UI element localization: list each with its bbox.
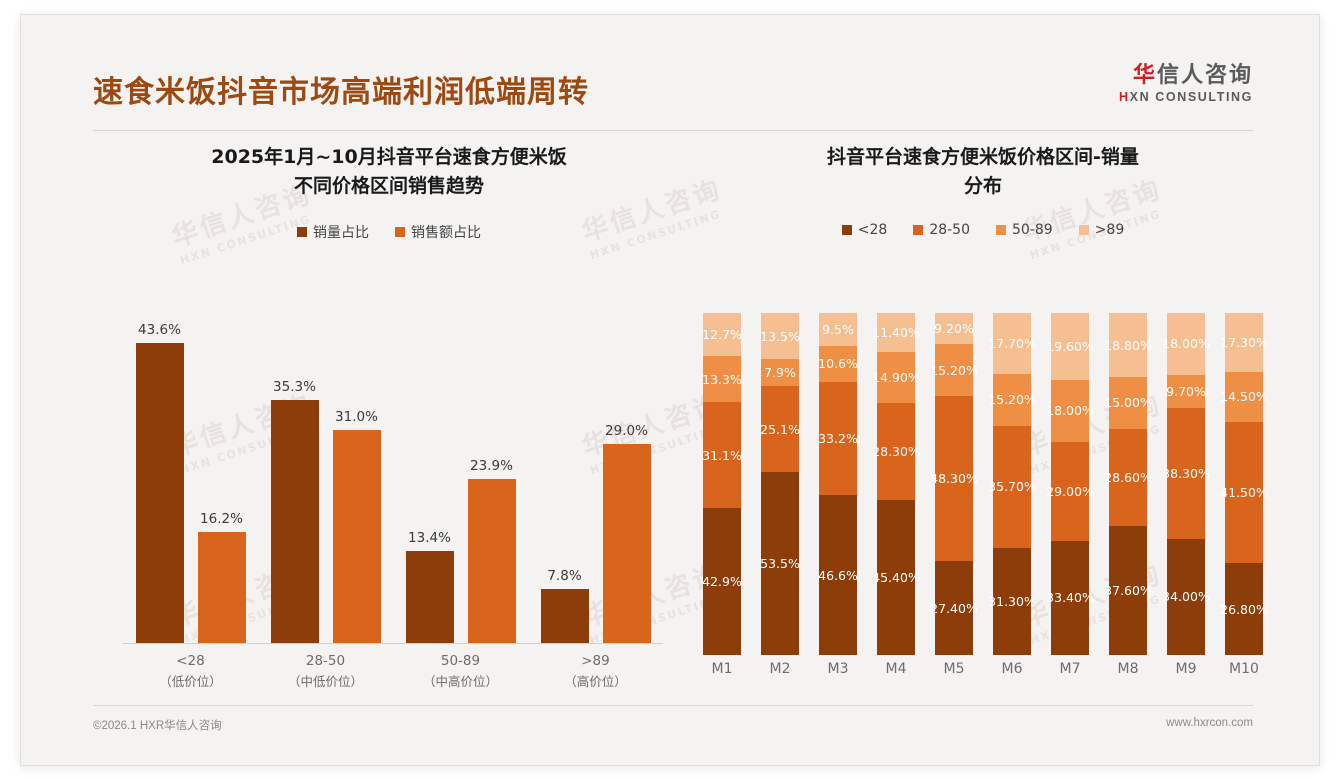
stacked-segment-value-label: 14.50% [1220,389,1268,404]
logo-chinese-text: 华信人咨询 [1119,63,1253,88]
stacked-bar-x-labels: M1M2M3M4M5M6M7M8M9M10 [703,661,1263,677]
stacked-segment-value-label: 31.30% [988,594,1036,609]
stacked-segment-value-label: 18.80% [1104,338,1152,353]
stacked-bar-segment[interactable]: 28.60% [1109,429,1147,527]
stacked-bar-segment[interactable]: 14.90% [877,352,915,403]
x-axis-category-sub: （中高价位） [393,672,528,691]
stacked-segment-value-label: 28.30% [872,444,920,459]
stacked-bar-segment[interactable]: 35.70% [993,426,1031,548]
bar-value-label: 29.0% [605,423,648,439]
chart-title-left-line2: 不同价格区间销售趋势 [99,172,679,201]
stacked-segment-value-label: 9.70% [1166,384,1206,399]
stacked-bar-segment[interactable]: 18.00% [1051,380,1089,442]
stacked-bar-column[interactable]: 17.30%14.50%41.50%26.80% [1225,313,1263,655]
stacked-bar-column[interactable]: 18.80%15.00%28.60%37.60% [1109,313,1147,655]
x-axis-month-label: M8 [1109,661,1147,677]
legend-label: <28 [858,222,888,238]
bar-group: 7.8%29.0% [528,313,663,643]
page-title: 速食米饭抖音市场高端利润低端周转 [93,67,589,111]
legend-swatch-icon [297,227,307,237]
x-axis-month-label: M3 [819,661,857,677]
chart-stacked-bar: 抖音平台速食方便米饭价格区间-销量 分布 <2828-5050-89>89 12… [693,143,1273,703]
chart-title-left-line1: 2025年1月~10月抖音平台速食方便米饭 [99,143,679,172]
stacked-bar-segment[interactable]: 17.30% [1225,313,1263,372]
stacked-bar-column[interactable]: 18.00%9.70%38.30%34.00% [1167,313,1205,655]
stacked-bar-segment[interactable]: 45.40% [877,500,915,655]
stacked-segment-value-label: 17.30% [1220,335,1268,350]
legend-right: <2828-5050-89>89 [693,222,1273,238]
legend-item[interactable]: 28-50 [913,222,970,238]
stacked-bar-segment[interactable]: 12.7% [703,313,741,356]
stacked-segment-value-label: 27.40% [930,601,978,616]
stacked-bar-plot-area: 12.7%13.3%31.1%42.9%13.5%7.9%25.1%53.5%9… [703,313,1263,655]
stacked-bar-segment[interactable]: 34.00% [1167,539,1205,655]
bar-value-label: 35.3% [273,379,316,395]
stacked-segment-value-label: 9.5% [822,322,854,337]
stacked-bar-segment[interactable]: 37.60% [1109,526,1147,655]
stacked-bar-segment[interactable]: 33.40% [1051,541,1089,655]
footer-website: www.hxrcon.com [1166,717,1253,733]
x-axis-category-sub: （中低价位） [258,672,393,691]
stacked-bar-segment[interactable]: 28.30% [877,403,915,500]
x-axis-category-label: <28（低价位） [123,651,258,691]
legend-swatch-icon [996,225,1006,235]
stacked-bar-segment[interactable]: 18.00% [1167,313,1205,375]
chart-title-right: 抖音平台速食方便米饭价格区间-销量 分布 [693,143,1273,200]
stacked-segment-value-label: 15.20% [930,363,978,378]
stacked-bar-segment[interactable]: 26.80% [1225,563,1263,655]
bar[interactable]: 7.8% [541,589,589,643]
stacked-segment-value-label: 35.70% [988,479,1036,494]
stacked-bar-segment[interactable]: 41.50% [1225,422,1263,564]
x-axis-category-label: 28-50（中低价位） [258,651,393,691]
stacked-bar-segment[interactable]: 33.2% [819,382,857,496]
x-axis-category-label: >89（高价位） [528,651,663,691]
stacked-bar-segment[interactable]: 13.3% [703,356,741,401]
logo-en-rest: XN CONSULTING [1130,90,1253,104]
stacked-bar-segment[interactable]: 27.40% [935,561,973,655]
x-axis-category-label: 50-89（中高价位） [393,651,528,691]
x-axis-month-label: M2 [761,661,799,677]
bar[interactable]: 29.0% [603,444,651,643]
logo-chars-rest: 信人咨询 [1157,63,1253,88]
logo-char-hua: 华 [1133,63,1157,88]
stacked-segment-value-label: 33.2% [818,431,858,446]
stacked-segment-value-label: 7.9% [764,365,796,380]
stacked-bar-column[interactable]: 12.7%13.3%31.1%42.9% [703,313,741,655]
slide-footer: ©2026.1 HXR华信人咨询 www.hxrcon.com [93,705,1253,733]
x-axis-category-main: 50-89 [441,653,480,669]
stacked-bar-segment[interactable]: 48.30% [935,396,973,561]
stacked-segment-value-label: 10.6% [818,356,858,371]
bar-value-label: 31.0% [335,409,378,425]
x-axis-category-sub: （高价位） [528,672,663,691]
x-axis-month-label: M7 [1051,661,1089,677]
stacked-bar-segment[interactable]: 18.80% [1109,313,1147,377]
x-axis-month-label: M5 [935,661,973,677]
x-axis-month-label: M9 [1167,661,1205,677]
stacked-segment-value-label: 26.80% [1220,602,1268,617]
stacked-bar-segment[interactable]: 19.60% [1051,313,1089,380]
stacked-bar-segment[interactable]: 9.5% [819,313,857,346]
stacked-segment-value-label: 53.5% [760,556,800,571]
stacked-segment-value-label: 15.00% [1104,395,1152,410]
bar[interactable]: 23.9% [468,479,516,643]
stacked-segment-value-label: 12.7% [702,327,742,342]
x-axis-month-label: M4 [877,661,915,677]
stacked-bar-segment[interactable]: 15.00% [1109,377,1147,428]
bar[interactable]: 35.3% [271,400,319,643]
stacked-segment-value-label: 25.1% [760,422,800,437]
stacked-bar-segment[interactable]: 17.70% [993,313,1031,374]
stacked-bar-column[interactable]: 9.20%15.20%48.30%27.40% [935,313,973,655]
chart-title-right-line2: 分布 [693,172,1273,201]
stacked-segment-value-label: 41.50% [1220,485,1268,500]
logo-english-text: HXN CONSULTING [1119,90,1253,104]
stacked-bar-column[interactable]: 9.5%10.6%33.2%46.6% [819,313,857,655]
stacked-segment-value-label: 38.30% [1162,466,1210,481]
stacked-segment-value-label: 31.1% [702,448,742,463]
chart-title-right-line1: 抖音平台速食方便米饭价格区间-销量 [693,143,1273,172]
bar-group: 43.6%16.2% [123,313,258,643]
legend-left: 销量占比销售额占比 [99,222,679,242]
stacked-bar-segment[interactable]: 14.50% [1225,372,1263,422]
stacked-bar-column[interactable]: 13.5%7.9%25.1%53.5% [761,313,799,655]
stacked-bar-column[interactable]: 11.40%14.90%28.30%45.40% [877,313,915,655]
stacked-segment-value-label: 11.40% [872,325,920,340]
bar[interactable]: 31.0% [333,430,381,643]
stacked-segment-value-label: 19.60% [1046,339,1094,354]
stacked-bar-segment[interactable]: 46.6% [819,495,857,655]
bar-value-label: 13.4% [408,530,451,546]
x-axis-category-sub: （低价位） [123,672,258,691]
stacked-bar-segment[interactable]: 29.00% [1051,442,1089,541]
stacked-bar-segment[interactable]: 7.9% [761,359,799,386]
stacked-segment-value-label: 18.00% [1046,403,1094,418]
stacked-segment-value-label: 13.3% [702,372,742,387]
stacked-bar-segment[interactable]: 9.70% [1167,375,1205,408]
stacked-segment-value-label: 33.40% [1046,590,1094,605]
stacked-segment-value-label: 17.70% [988,336,1036,351]
legend-swatch-icon [842,225,852,235]
stacked-segment-value-label: 14.90% [872,370,920,385]
legend-item[interactable]: 销售额占比 [395,222,481,242]
stacked-segment-value-label: 28.60% [1104,470,1152,485]
x-axis-category-main: 28-50 [306,653,345,669]
stacked-bar-segment[interactable]: 38.30% [1167,408,1205,539]
slide-header: 速食米饭抖音市场高端利润低端周转 华信人咨询 HXN CONSULTING [93,59,1253,131]
chart-grouped-bar: 2025年1月~10月抖音平台速食方便米饭 不同价格区间销售趋势 销量占比销售额… [99,143,679,703]
stacked-segment-value-label: 29.00% [1046,484,1094,499]
slide-canvas: 速食米饭抖音市场高端利润低端周转 华信人咨询 HXN CONSULTING 华信… [20,14,1320,766]
bar-value-label: 43.6% [138,322,181,338]
stacked-bar-column[interactable]: 17.70%15.20%35.70%31.30% [993,313,1031,655]
stacked-bar-segment[interactable]: 53.5% [761,472,799,655]
bar-value-label: 16.2% [200,511,243,527]
stacked-segment-value-label: 46.6% [818,568,858,583]
legend-swatch-icon [395,227,405,237]
legend-label: 销量占比 [313,222,369,242]
stacked-segment-value-label: 18.00% [1162,336,1210,351]
bar[interactable]: 16.2% [198,532,246,643]
stacked-bar-segment[interactable]: 42.9% [703,508,741,655]
stacked-segment-value-label: 48.30% [930,471,978,486]
x-axis-category-main: <28 [176,653,205,669]
stacked-segment-value-label: 45.40% [872,570,920,585]
stacked-bar-segment[interactable]: 25.1% [761,386,799,472]
bar[interactable]: 13.4% [406,551,454,643]
logo-en-accent: H [1119,90,1130,104]
stacked-bar-segment[interactable]: 15.20% [993,374,1031,426]
legend-label: 销售额占比 [411,222,481,242]
chart-title-left: 2025年1月~10月抖音平台速食方便米饭 不同价格区间销售趋势 [99,143,679,200]
stacked-segment-value-label: 15.20% [988,392,1036,407]
legend-swatch-icon [913,225,923,235]
bar-value-label: 7.8% [547,568,581,584]
x-axis-month-label: M1 [703,661,741,677]
legend-label: >89 [1095,222,1125,238]
stacked-bar-segment[interactable]: 9.20% [935,313,973,344]
stacked-segment-value-label: 37.60% [1104,583,1152,598]
stacked-segment-value-label: 34.00% [1162,589,1210,604]
legend-item[interactable]: 销量占比 [297,222,369,242]
legend-item[interactable]: 50-89 [996,222,1053,238]
stacked-segment-value-label: 13.5% [760,329,800,344]
bar-value-label: 23.9% [470,458,513,474]
legend-label: 50-89 [1012,222,1053,238]
x-axis-category-main: >89 [581,653,610,669]
stacked-bar-segment[interactable]: 31.30% [993,548,1031,655]
stacked-bar-segment[interactable]: 11.40% [877,313,915,352]
stacked-bar-segment[interactable]: 31.1% [703,402,741,508]
stacked-bar-segment[interactable]: 10.6% [819,346,857,382]
brand-logo: 华信人咨询 HXN CONSULTING [1119,63,1253,104]
bar-group: 13.4%23.9% [393,313,528,643]
stacked-segment-value-label: 9.20% [934,321,974,336]
footer-copyright: ©2026.1 HXR华信人咨询 [93,717,222,733]
legend-item[interactable]: <28 [842,222,888,238]
stacked-bar-column[interactable]: 19.60%18.00%29.00%33.40% [1051,313,1089,655]
x-axis-month-label: M10 [1225,661,1263,677]
legend-item[interactable]: >89 [1079,222,1125,238]
stacked-bar-segment[interactable]: 15.20% [935,344,973,396]
bar-group: 35.3%31.0% [258,313,393,643]
bar[interactable]: 43.6% [136,343,184,643]
x-axis-month-label: M6 [993,661,1031,677]
legend-label: 28-50 [929,222,970,238]
grouped-bar-plot-area: 43.6%16.2%35.3%31.0%13.4%23.9%7.8%29.0% [123,313,663,643]
grouped-bar-axis-line [123,643,663,644]
stacked-bar-segment[interactable]: 13.5% [761,313,799,359]
stacked-segment-value-label: 42.9% [702,574,742,589]
legend-swatch-icon [1079,225,1089,235]
